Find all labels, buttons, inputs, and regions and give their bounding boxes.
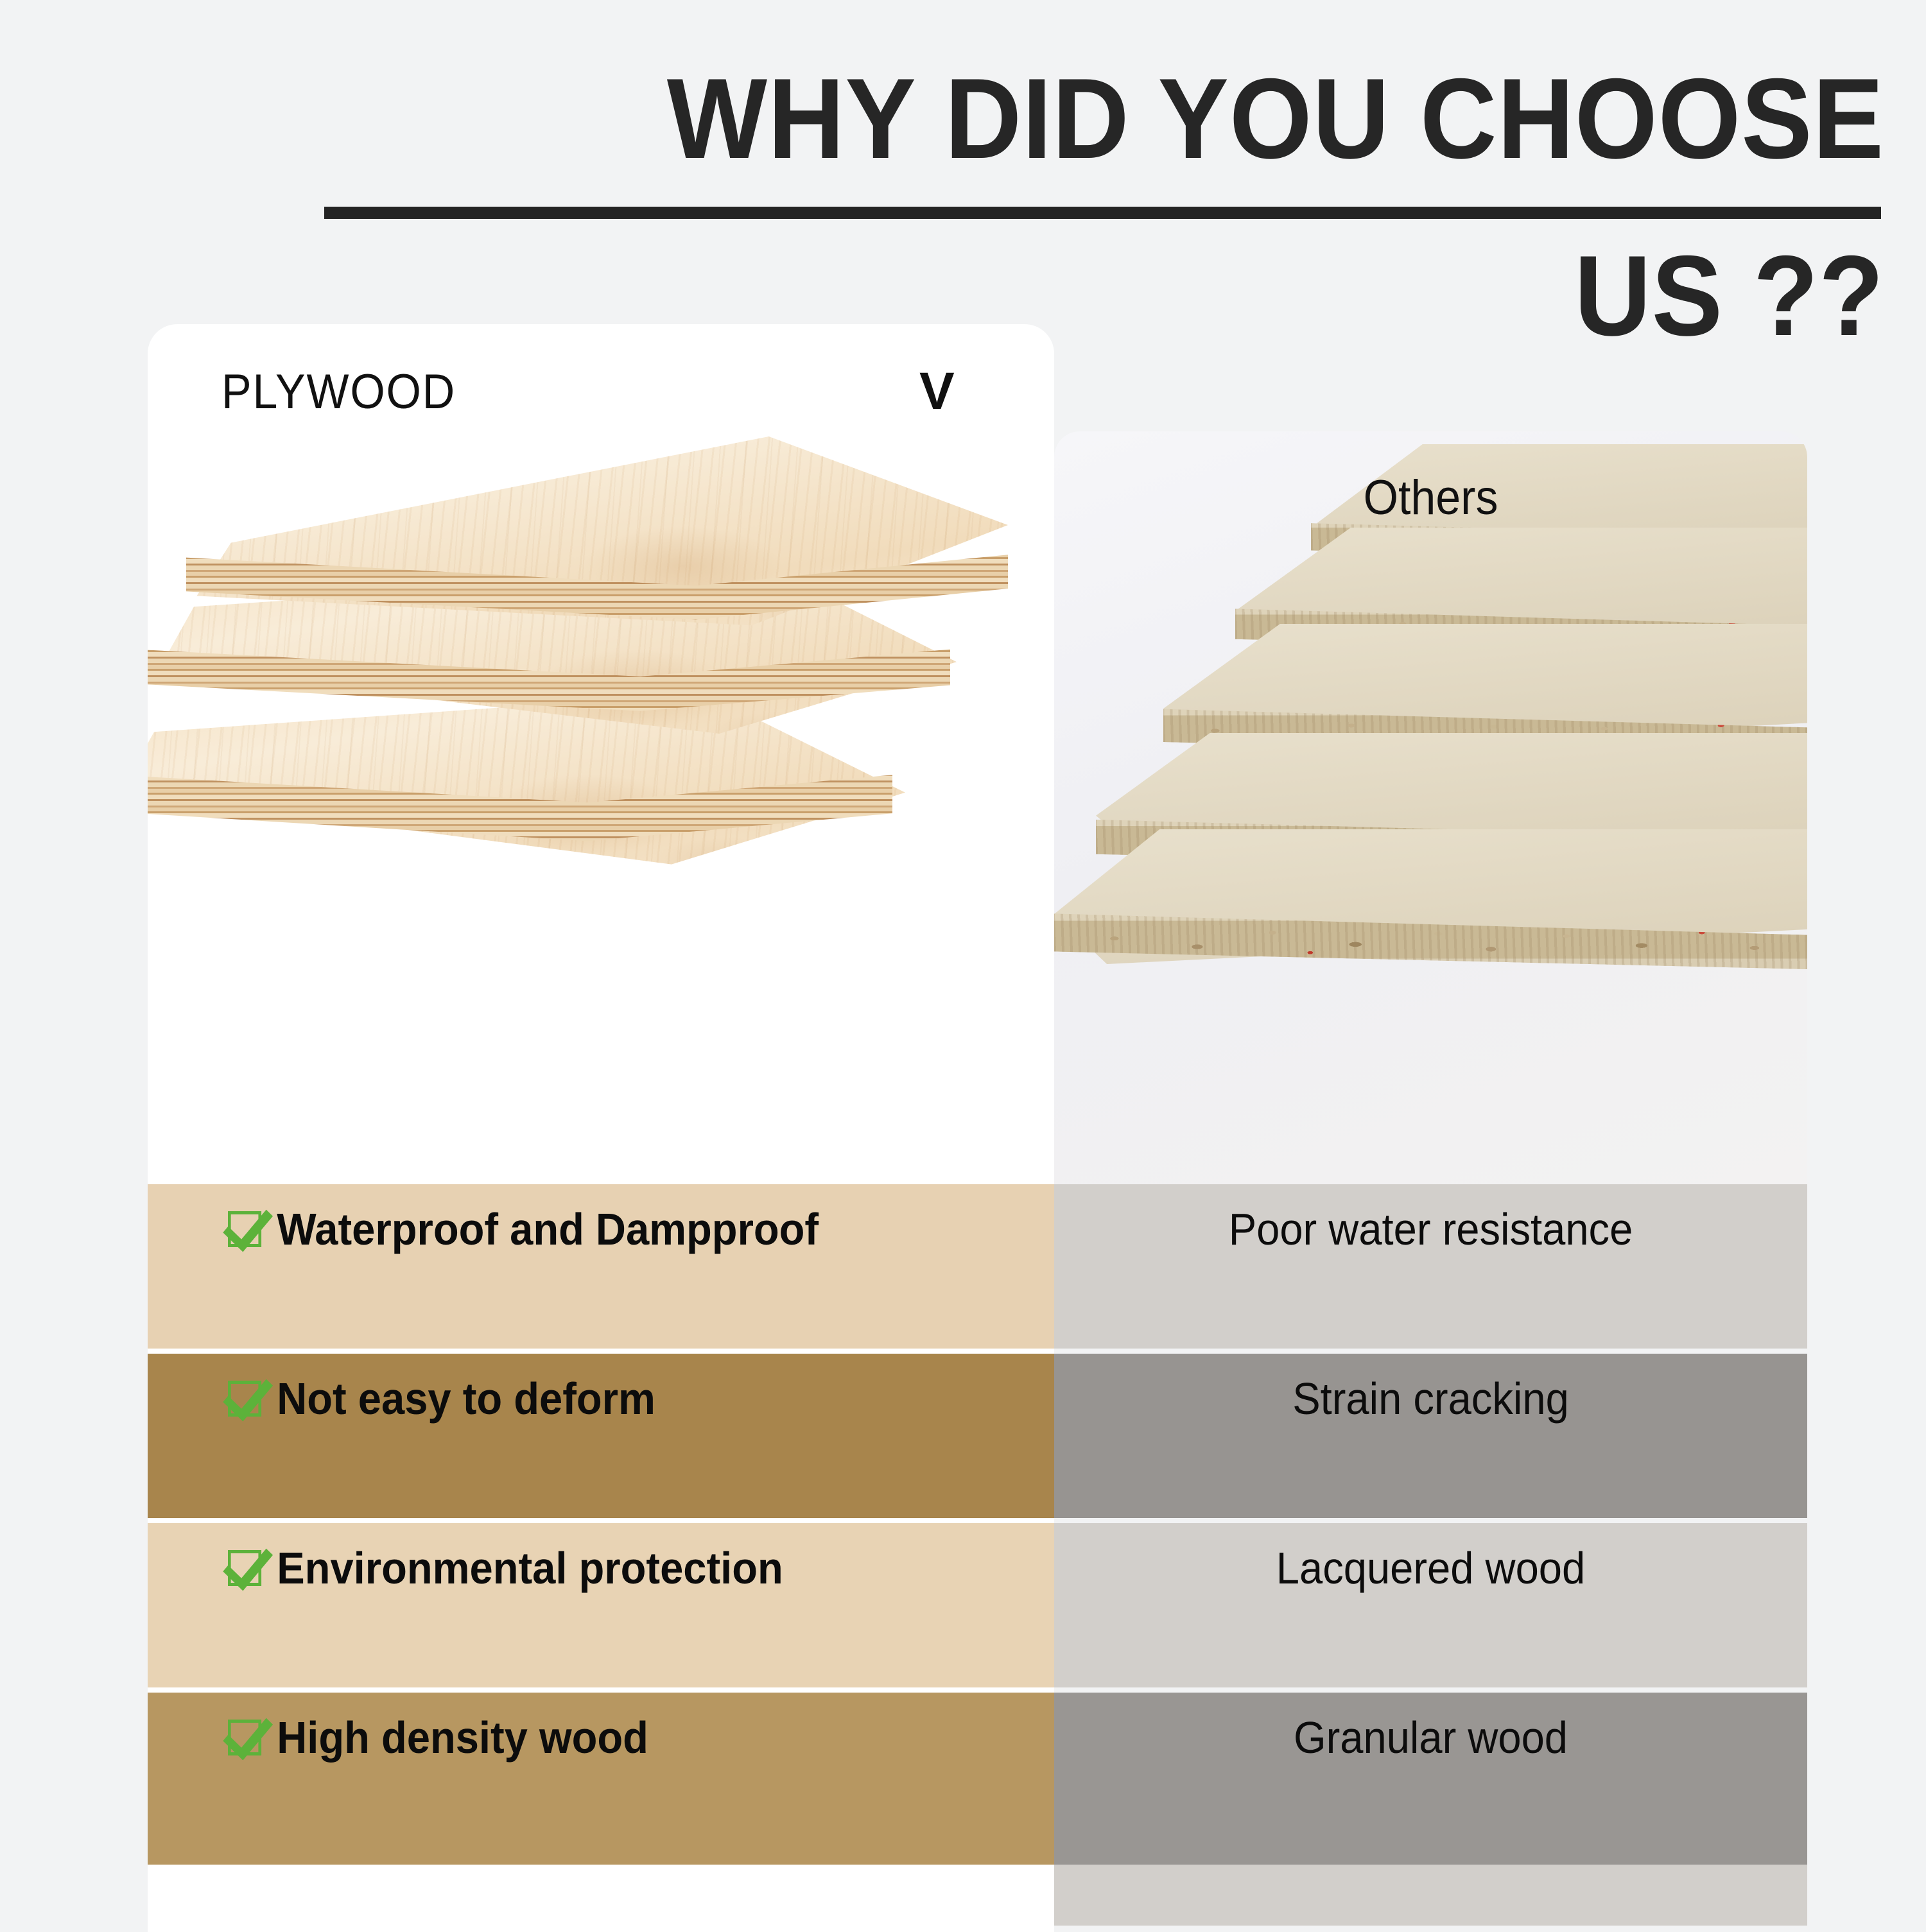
- table-row: Not easy to deform: [148, 1354, 1054, 1518]
- plywood-feature-row-4: High density wood: [228, 1712, 648, 1763]
- table-row: Environmental protection: [148, 1523, 1054, 1687]
- plywood-feature-row-2: Not easy to deform: [228, 1373, 655, 1424]
- table-row: Granular wood: [1054, 1693, 1807, 1865]
- plywood-panel-label: PLYWOOD: [221, 364, 456, 420]
- others-feature-label: Strain cracking: [1080, 1373, 1781, 1424]
- plywood-stack-photo: [148, 436, 1054, 1184]
- check-icon: [228, 1550, 261, 1586]
- others-panel: Others: [1054, 431, 1807, 1184]
- table-row: High density wood: [148, 1693, 1054, 1865]
- others-panel-label: Others: [1084, 470, 1777, 526]
- plywood-board-top: [154, 436, 1008, 732]
- title-underline-rule: [324, 207, 1881, 219]
- others-feature-label: Granular wood: [1080, 1712, 1781, 1763]
- check-icon: [228, 1720, 261, 1755]
- chevron-down-icon: V: [919, 361, 955, 422]
- table-row: Poor water resistance: [1054, 1184, 1807, 1349]
- table-row: Strain cracking: [1054, 1354, 1807, 1518]
- page-title-line-1: WHY DID YOU CHOOSE: [132, 62, 1884, 176]
- check-icon: [228, 1381, 261, 1417]
- check-icon: [228, 1211, 261, 1247]
- particleboard-board-1: [1054, 829, 1807, 1022]
- others-feature-label: Lacquered wood: [1080, 1542, 1781, 1594]
- table-row: Waterproof and Dampproof: [148, 1184, 1054, 1349]
- particleboard-stack-photo: [1054, 431, 1807, 1184]
- plywood-panel-footer: [148, 1865, 1054, 1926]
- header: WHY DID YOU CHOOSE US ??: [0, 0, 1926, 321]
- plywood-feature-row-3: Environmental protection: [228, 1542, 783, 1594]
- plywood-feature-row-1: Waterproof and Dampproof: [228, 1203, 819, 1255]
- plywood-feature-label: Environmental protection: [277, 1542, 783, 1594]
- table-row: Lacquered wood: [1054, 1523, 1807, 1687]
- plywood-feature-label: Not easy to deform: [277, 1373, 655, 1424]
- plywood-feature-label: High density wood: [277, 1712, 648, 1763]
- others-panel-footer: [1054, 1865, 1807, 1926]
- plywood-panel: PLYWOOD V: [148, 324, 1054, 1932]
- plywood-feature-label: Waterproof and Dampproof: [277, 1203, 819, 1255]
- others-feature-label: Poor water resistance: [1080, 1203, 1781, 1255]
